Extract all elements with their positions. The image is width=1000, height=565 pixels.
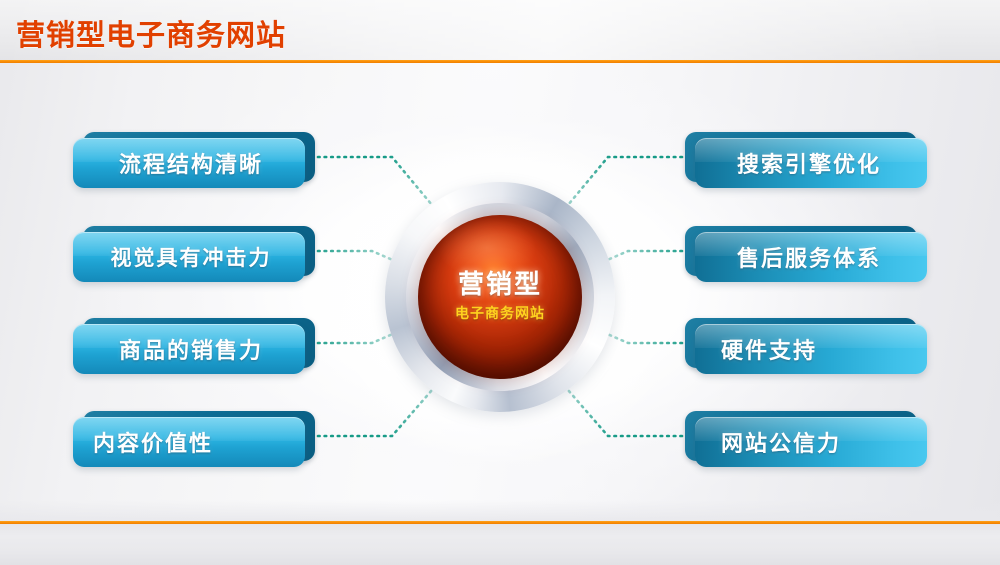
feature-chip-right-1[interactable]: 搜索引擎优化 bbox=[695, 138, 927, 188]
feature-chip-right-4[interactable]: 网站公信力 bbox=[695, 417, 927, 467]
chip-face: 内容价值性 bbox=[73, 417, 305, 467]
chip-label: 搜索引擎优化 bbox=[695, 147, 927, 179]
chip-face: 视觉具有冲击力 bbox=[73, 232, 305, 282]
chip-face: 网站公信力 bbox=[695, 417, 927, 467]
chip-label: 硬件支持 bbox=[695, 333, 927, 365]
chip-face: 售后服务体系 bbox=[695, 232, 927, 282]
header-divider-rule bbox=[0, 60, 1000, 63]
chip-face: 商品的销售力 bbox=[73, 324, 305, 374]
feature-chip-right-2[interactable]: 售后服务体系 bbox=[695, 232, 927, 282]
feature-chip-left-1[interactable]: 流程结构清晰 bbox=[73, 138, 305, 188]
chip-label: 流程结构清晰 bbox=[73, 147, 305, 179]
hub-text-block: 营销型 电子商务网站 bbox=[418, 215, 582, 379]
page-title: 营销型电子商务网站 bbox=[16, 12, 286, 54]
hub-subtitle: 电子商务网站 bbox=[455, 303, 545, 323]
feature-chip-left-2[interactable]: 视觉具有冲击力 bbox=[73, 232, 305, 282]
feature-chip-right-3[interactable]: 硬件支持 bbox=[695, 324, 927, 374]
feature-chip-left-3[interactable]: 商品的销售力 bbox=[73, 324, 305, 374]
chip-label: 视觉具有冲击力 bbox=[73, 242, 305, 272]
chip-label: 售后服务体系 bbox=[695, 241, 927, 273]
feature-chip-left-4[interactable]: 内容价值性 bbox=[73, 417, 305, 467]
chip-face: 流程结构清晰 bbox=[73, 138, 305, 188]
center-hub: 营销型 电子商务网站 bbox=[366, 186, 634, 408]
chip-label: 内容价值性 bbox=[73, 426, 305, 458]
slide-canvas: 营销型电子商务网站 营销型 电子商务网站 流程结构清 bbox=[0, 0, 1000, 565]
chip-face: 硬件支持 bbox=[695, 324, 927, 374]
chip-label: 网站公信力 bbox=[695, 426, 927, 458]
hub-title: 营销型 bbox=[458, 271, 542, 300]
chip-label: 商品的销售力 bbox=[73, 333, 305, 365]
footer-divider-rule bbox=[0, 521, 1000, 524]
chip-face: 搜索引擎优化 bbox=[695, 138, 927, 188]
hub-sphere: 营销型 电子商务网站 bbox=[418, 215, 582, 379]
